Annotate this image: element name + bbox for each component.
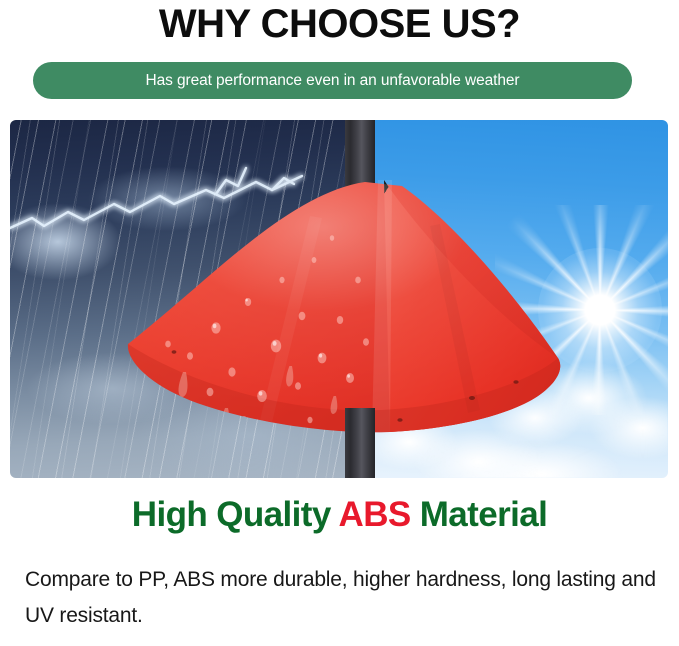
page-title: WHY CHOOSE US? — [0, 2, 679, 46]
material-description: Compare to PP, ABS more durable, higher … — [25, 562, 665, 634]
mounting-pole-lower — [345, 408, 375, 478]
material-headline-part1: High Quality — [132, 495, 339, 534]
material-headline-part2: Material — [411, 495, 548, 534]
feature-banner-text: Has great performance even in an unfavor… — [146, 72, 520, 90]
cloud-bank — [352, 278, 668, 478]
storm-sky-background — [10, 120, 352, 478]
product-photo — [10, 120, 668, 478]
material-headline-accent: ABS — [339, 495, 411, 534]
material-headline: High Quality ABS Material — [0, 494, 679, 536]
feature-banner: Has great performance even in an unfavor… — [33, 62, 632, 99]
sunny-sky-background — [352, 120, 668, 478]
